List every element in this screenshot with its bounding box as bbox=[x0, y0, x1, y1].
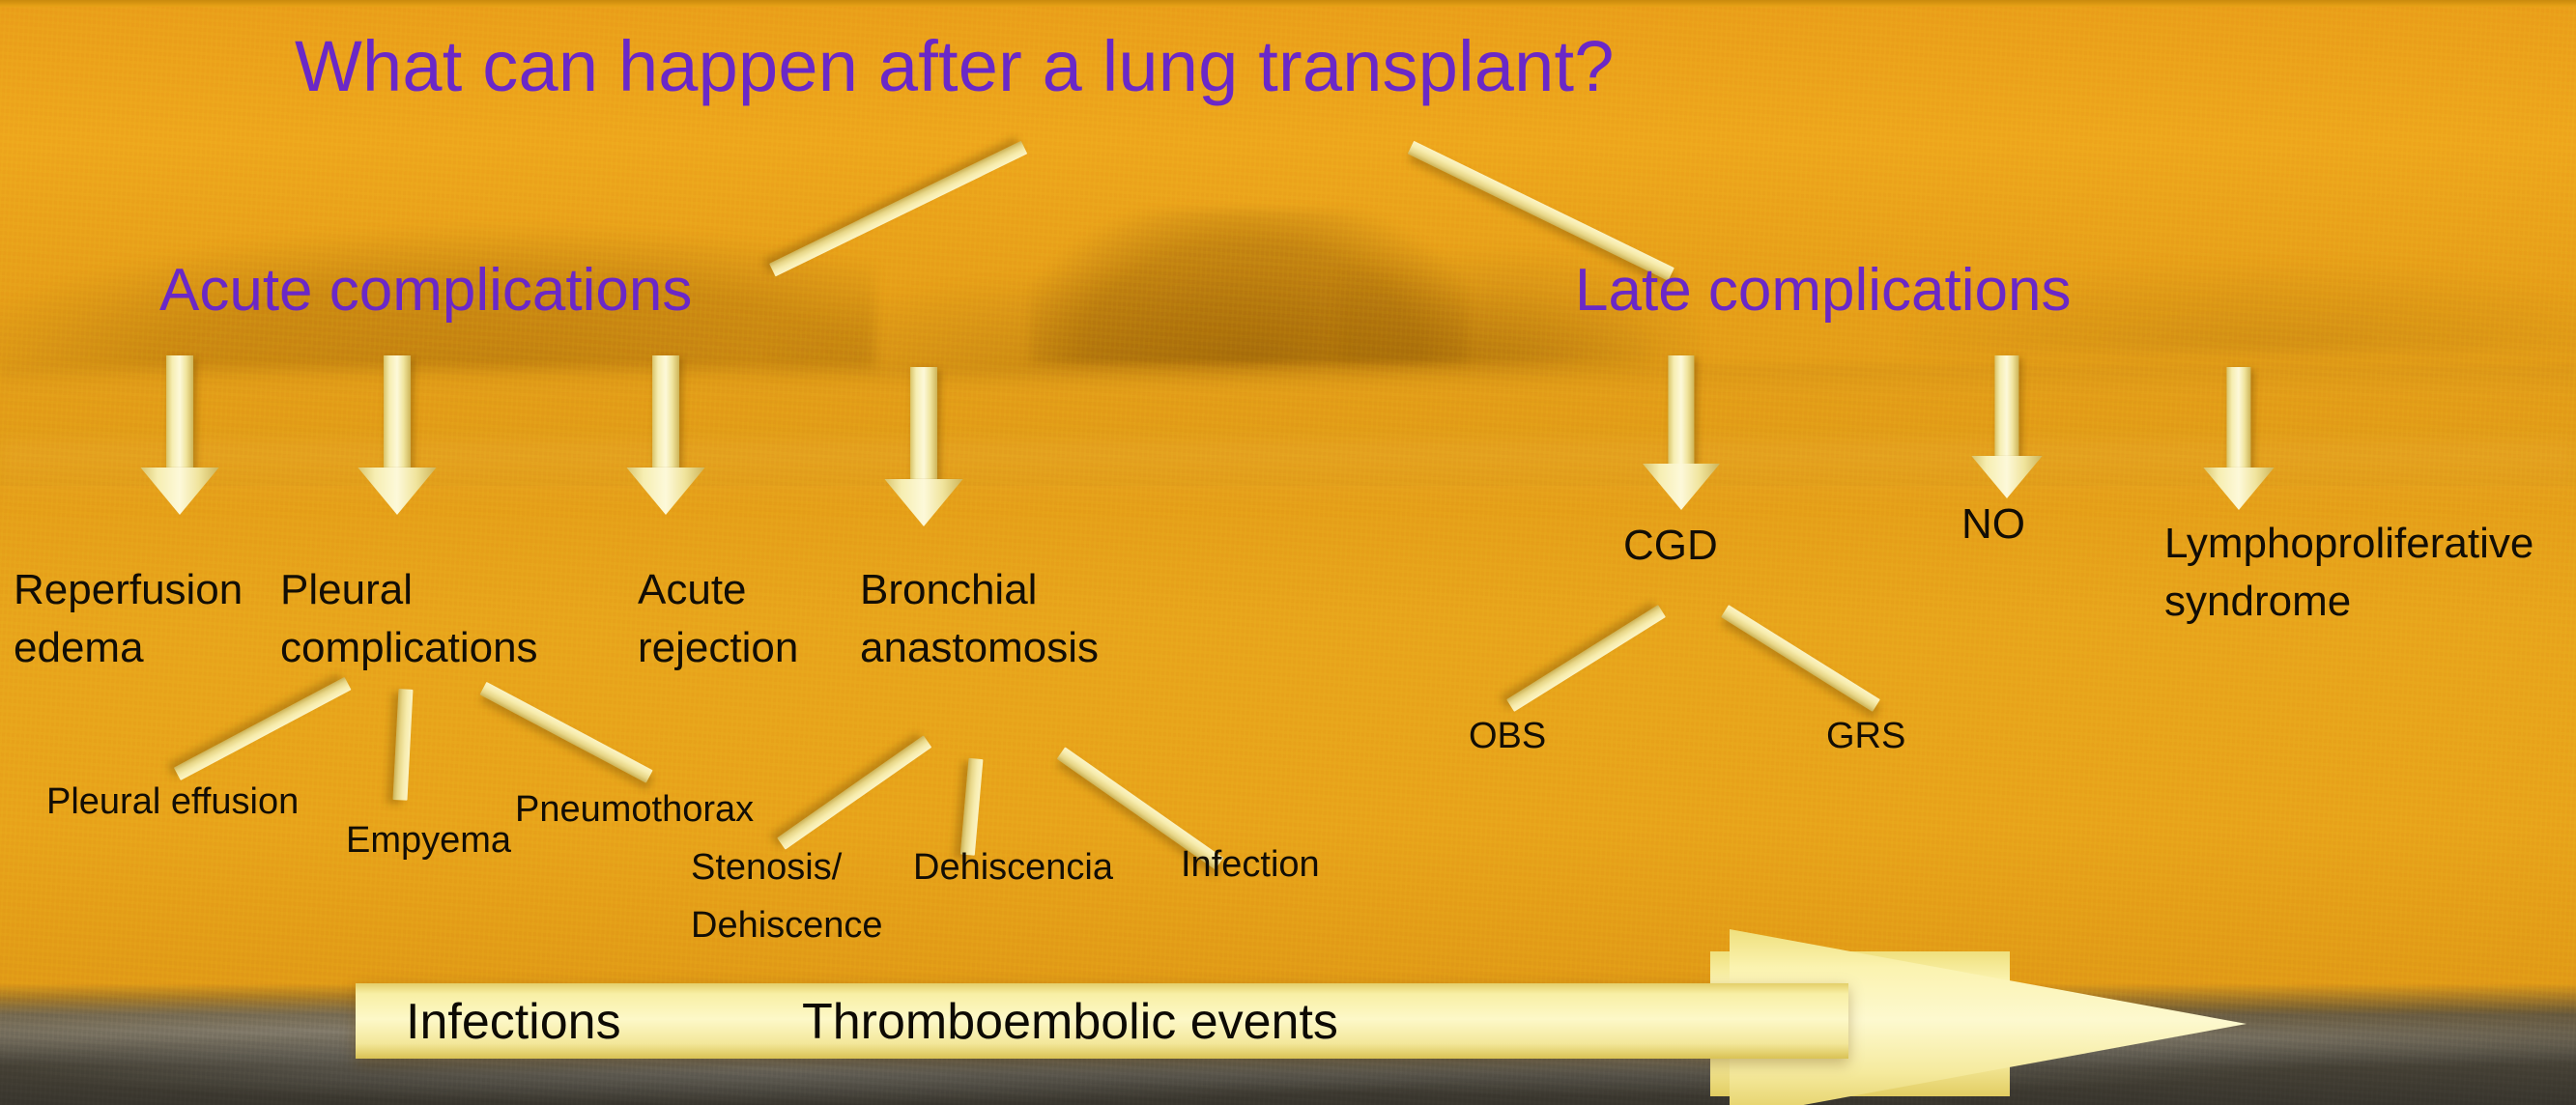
arrow-head bbox=[358, 467, 437, 516]
node-stenosis-dehiscence-line2: Dehiscence bbox=[691, 906, 883, 945]
arrow-down-pleural-complications bbox=[358, 355, 437, 515]
node-reperfusion-edema-line1: Reperfusion bbox=[14, 568, 243, 613]
arrow-head bbox=[2203, 467, 2275, 510]
banner-label-infections: Infections bbox=[406, 996, 621, 1049]
node-lymphoproliferative-line2: syndrome bbox=[2164, 580, 2351, 625]
banner-label-thromboembolic-events: Thromboembolic events bbox=[802, 996, 1338, 1049]
page-title: What can happen after a lung transplant? bbox=[295, 29, 1615, 104]
top-edge-strip bbox=[0, 0, 2576, 7]
node-reperfusion-edema-line2: edema bbox=[14, 626, 144, 671]
arrow-down-reperfusion-edema bbox=[140, 355, 219, 515]
arrow-down-acute-rejection bbox=[626, 355, 705, 515]
arrow-head bbox=[1643, 464, 1720, 510]
arrow-head bbox=[626, 467, 705, 516]
arrow-shaft bbox=[384, 355, 411, 470]
arrow-shaft bbox=[910, 367, 937, 482]
node-obs: OBS bbox=[1469, 717, 1546, 755]
node-dehiscencia: Dehiscencia bbox=[913, 848, 1113, 887]
arrow-down-lymphoproliferative bbox=[2203, 367, 2275, 510]
arrow-shaft bbox=[166, 355, 193, 470]
node-pleural-effusion: Pleural effusion bbox=[46, 782, 299, 821]
node-cgd: CGD bbox=[1623, 524, 1718, 569]
branch-heading-late: Late complications bbox=[1575, 259, 2072, 323]
node-acute-rejection-line2: rejection bbox=[638, 626, 798, 671]
node-pleural-complications-line1: Pleural bbox=[280, 568, 413, 613]
node-bronchial-anastomosis-line1: Bronchial bbox=[860, 568, 1037, 613]
branch-heading-acute: Acute complications bbox=[159, 259, 692, 323]
node-infection: Infection bbox=[1181, 845, 1320, 884]
node-grs: GRS bbox=[1826, 717, 1905, 755]
arrow-head bbox=[1971, 456, 2043, 498]
node-no: NO bbox=[1961, 502, 2025, 548]
arrow-down-no bbox=[1971, 355, 2043, 498]
node-stenosis-dehiscence-line1: Stenosis/ bbox=[691, 848, 842, 887]
node-pleural-complications-line2: complications bbox=[280, 626, 538, 671]
arrow-shaft bbox=[2226, 367, 2250, 470]
arrow-down-cgd bbox=[1643, 355, 1720, 510]
arrow-down-bronchial-anastomosis bbox=[884, 367, 963, 526]
arrow-head bbox=[140, 467, 219, 516]
arrow-shaft bbox=[1668, 355, 1694, 467]
arrow-shaft bbox=[1994, 355, 2018, 459]
node-empyema: Empyema bbox=[346, 821, 511, 860]
node-acute-rejection-line1: Acute bbox=[638, 568, 747, 613]
node-bronchial-anastomosis-line2: anastomosis bbox=[860, 626, 1099, 671]
node-pneumothorax: Pneumothorax bbox=[515, 790, 754, 829]
arrow-shaft bbox=[652, 355, 679, 470]
slide-canvas: What can happen after a lung transplant?… bbox=[0, 0, 2576, 1105]
arrow-head bbox=[884, 479, 963, 527]
node-lymphoproliferative-line1: Lymphoproliferative bbox=[2164, 522, 2533, 567]
